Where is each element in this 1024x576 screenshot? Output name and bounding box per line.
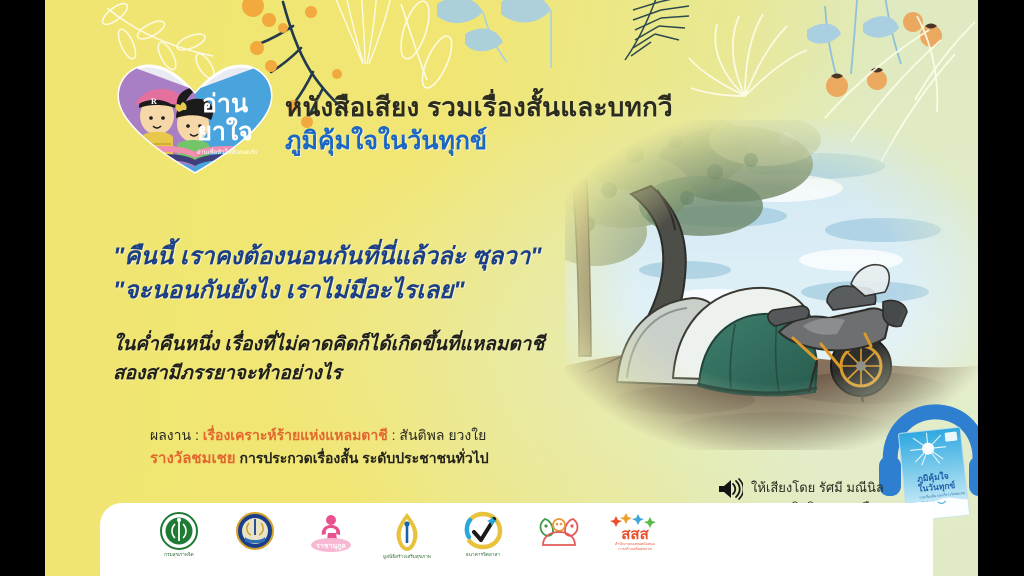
svg-text:สสส: สสส: [621, 526, 649, 543]
slide-canvas: R: [45, 0, 978, 576]
partner-caption: ธนาคารจิตอาสา: [466, 552, 500, 557]
slide-stage: R: [0, 0, 1024, 576]
award-detail: การประกวดเรื่องสั้น ระดับประชาชนทั่วไป: [239, 450, 488, 466]
blue-gold-emblem-icon: [235, 511, 275, 551]
svg-text:การสร้างเสริมสุขภาพ: การสร้างเสริมสุขภาพ: [618, 546, 652, 552]
letterbox-right: [978, 0, 1024, 576]
svg-text:R: R: [151, 97, 157, 106]
family-icon: [535, 511, 583, 551]
partner-logo-band: กรมสุขภาพจิต ราชานุกูล: [100, 503, 933, 576]
credit-separator: :: [392, 427, 396, 443]
credit-work-title: เรื่องเคราะห์ร้ายแห่งแหลมตาชี: [203, 427, 388, 443]
narrator-primary: ให้เสียงโดย รัศมี มณีนิล: [751, 478, 884, 498]
credit-award-row: รางวัลชมเชย การประกวดเรื่องสั้น ระดับประ…: [150, 447, 489, 472]
page-subtitle: ภูมิคุ้มใจในวันทุกข์: [285, 126, 673, 157]
credits-block: ผลงาน : เรื่องเคราะห์ร้ายแห่งแหลมตาชี : …: [150, 424, 489, 472]
partner-caption: กรมสุขภาพจิต: [164, 552, 194, 557]
logo-word-line2: ยาใจ: [197, 116, 253, 146]
svg-text:ราชานุกูล: ราชานุกูล: [316, 543, 346, 551]
partner-caption: มูลนิธิสร้างเสริมสุขภาพ: [383, 554, 431, 559]
partner-department-of-mental-health: กรมสุขภาพจิต: [148, 511, 210, 569]
sss-icon: สสส สำนักงานกองทุนสนับสนุน การสร้างเสริม…: [608, 511, 662, 555]
synopsis-line-1: ในค่ำคืนหนึ่ง เรื่องที่ไม่คาดคิดก็ได้เกิ…: [113, 330, 544, 359]
partner-rajanukul-institute: ราชานุกูล: [300, 511, 362, 569]
partner-thai-health-flame: มูลนิธิสร้างเสริมสุขภาพ: [376, 511, 438, 569]
page-title: หนังสือเสียง รวมเรื่องสั้นและบทกวี: [285, 92, 673, 124]
check-circle-icon: [462, 511, 504, 551]
camping-illustration: [565, 120, 978, 450]
credit-work-label: ผลงาน :: [150, 427, 199, 443]
synopsis-line-2: สองสามีภรรยาจะทำอย่างไร: [113, 359, 544, 388]
synopsis-block: ในค่ำคืนหนึ่ง เรื่องที่ไม่คาดคิดก็ได้เกิ…: [113, 330, 544, 389]
award-badge: รางวัลชมเชย: [150, 450, 236, 467]
quote-line-1: "คืนนี้ เราคงต้องนอนกันที่นี่แล้วล่ะ ซุล…: [113, 240, 542, 274]
credit-work-row: ผลงาน : เรื่องเคราะห์ร้ายแห่งแหลมตาชี : …: [150, 424, 489, 447]
aan-ya-jai-logo: R: [105, 60, 285, 175]
pink-figure-icon: ราชานุกูล: [307, 511, 355, 553]
partner-thaihealth-sss: สสส สำนักงานกองทุนสนับสนุน การสร้างเสริม…: [604, 511, 666, 569]
partner-ministry-emblem: [224, 511, 286, 569]
quote-line-2: "จะนอนกันยังไง เราไม่มีอะไรเลย": [113, 274, 542, 308]
gold-flame-icon: [389, 511, 425, 553]
green-seal-icon: [159, 511, 199, 551]
quote-block: "คืนนี้ เราคงต้องนอนกันที่นี่แล้วล่ะ ซุล…: [113, 240, 542, 308]
speaker-icon: [717, 478, 743, 500]
logo-tagline: อ่านเพื่อหัวใจที่ปลอดภัย: [197, 148, 258, 156]
letterbox-left: [0, 0, 45, 576]
credit-author: สันติพล ยวงใย: [399, 427, 486, 443]
partner-volunteer-spirit-bank: ธนาคารจิตอาสา: [452, 511, 514, 569]
logo-word-line1: อ่าน: [202, 90, 248, 118]
header-block: หนังสือเสียง รวมเรื่องสั้นและบทกวี ภูมิค…: [285, 92, 673, 157]
partner-family-network: [528, 511, 590, 569]
